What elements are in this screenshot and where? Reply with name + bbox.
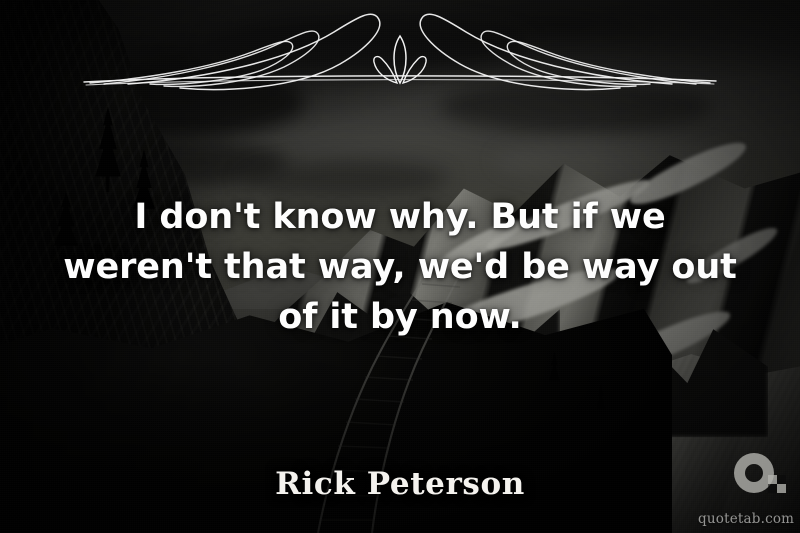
quotetab-q-logo-icon — [732, 451, 790, 501]
quote-author: Rick Peterson — [0, 466, 800, 502]
watermark-site-text: quotetab.com — [698, 511, 790, 527]
decorative-flourish-divider — [0, 4, 800, 100]
quote-text: I don't know why. But if we weren't that… — [62, 192, 738, 342]
site-watermark[interactable]: quotetab.com — [700, 451, 792, 527]
flourish-icon — [0, 4, 800, 100]
content-layer: I don't know why. But if we weren't that… — [0, 0, 800, 533]
quote-image-card: I don't know why. But if we weren't that… — [0, 0, 800, 533]
